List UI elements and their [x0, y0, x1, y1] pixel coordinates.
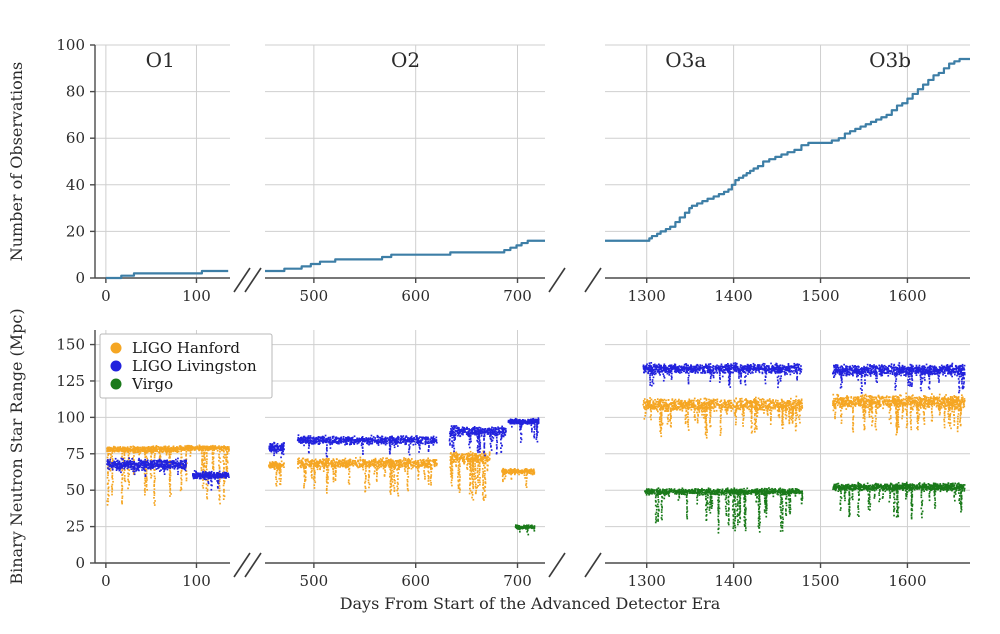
legend-marker-livingston — [111, 361, 122, 372]
y-tick-label: 50 — [66, 481, 85, 499]
scatter-series-virgo — [515, 482, 966, 536]
axis-break-mark — [585, 268, 601, 292]
y-tick-label: 125 — [56, 372, 85, 390]
x-tick-label: 1500 — [801, 572, 839, 590]
x-tick-label: 600 — [401, 572, 430, 590]
x-tick-label: 1600 — [888, 572, 926, 590]
y-tick-label: 20 — [66, 222, 85, 240]
y-tick-label: 0 — [75, 269, 85, 287]
x-tick-label: 500 — [300, 572, 329, 590]
x-tick-label: 1300 — [628, 572, 666, 590]
axis-break-mark — [549, 553, 565, 577]
x-tick-label: 1600 — [888, 287, 926, 305]
cumulative-step-o3 — [605, 59, 970, 241]
x-tick-label: 1300 — [628, 287, 666, 305]
cumulative-step-o2 — [265, 241, 545, 271]
gravitational-wave-observation-figure: 0100500600700130014001500160002040608010… — [0, 0, 1000, 634]
panel-title-o2: O2 — [391, 48, 420, 72]
x-tick-label: 500 — [300, 287, 329, 305]
y-tick-label: 75 — [66, 445, 85, 463]
y-axis-title-observations: Number of Observations — [7, 62, 26, 262]
y-axis-title-bns-range: Binary Neutron Star Range (Mpc) — [7, 308, 26, 584]
y-tick-label: 0 — [75, 554, 85, 572]
top-panel-axes: 0100500600700130014001500160002040608010… — [56, 36, 970, 305]
x-tick-label: 1400 — [715, 287, 753, 305]
y-tick-label: 60 — [66, 129, 85, 147]
legend-label-virgo: Virgo — [131, 375, 173, 393]
legend-marker-virgo — [111, 379, 122, 390]
cumulative-step-o1 — [106, 271, 228, 278]
panel-titles: O1O2O3aO3b — [146, 48, 911, 72]
y-tick-label: 150 — [56, 336, 85, 354]
legend-label-livingston: LIGO Livingston — [132, 357, 257, 375]
panel-title-o1: O1 — [146, 48, 175, 72]
y-tick-label: 40 — [66, 176, 85, 194]
y-tick-label: 100 — [56, 408, 85, 426]
x-axis-title: Days From Start of the Advanced Detector… — [340, 594, 721, 613]
legend-label-hanford: LIGO Hanford — [132, 339, 240, 357]
y-tick-label: 80 — [66, 83, 85, 101]
x-tick-label: 700 — [503, 287, 532, 305]
x-tick-label: 100 — [182, 572, 211, 590]
x-tick-label: 100 — [182, 287, 211, 305]
x-tick-label: 0 — [101, 287, 111, 305]
legend-marker-hanford — [111, 343, 122, 354]
panel-title-o3a: O3a — [665, 48, 706, 72]
x-tick-label: 700 — [503, 572, 532, 590]
panel-title-o3b: O3b — [869, 48, 911, 72]
axis-break-mark — [549, 268, 565, 292]
y-tick-label: 25 — [66, 518, 85, 536]
x-tick-label: 1500 — [801, 287, 839, 305]
axis-break-mark — [585, 553, 601, 577]
figure-canvas: 0100500600700130014001500160002040608010… — [0, 0, 1000, 634]
x-tick-label: 0 — [101, 572, 111, 590]
legend: LIGO HanfordLIGO LivingstonVirgo — [100, 334, 272, 398]
x-tick-label: 1400 — [715, 572, 753, 590]
y-tick-label: 100 — [56, 36, 85, 54]
x-tick-label: 600 — [401, 287, 430, 305]
